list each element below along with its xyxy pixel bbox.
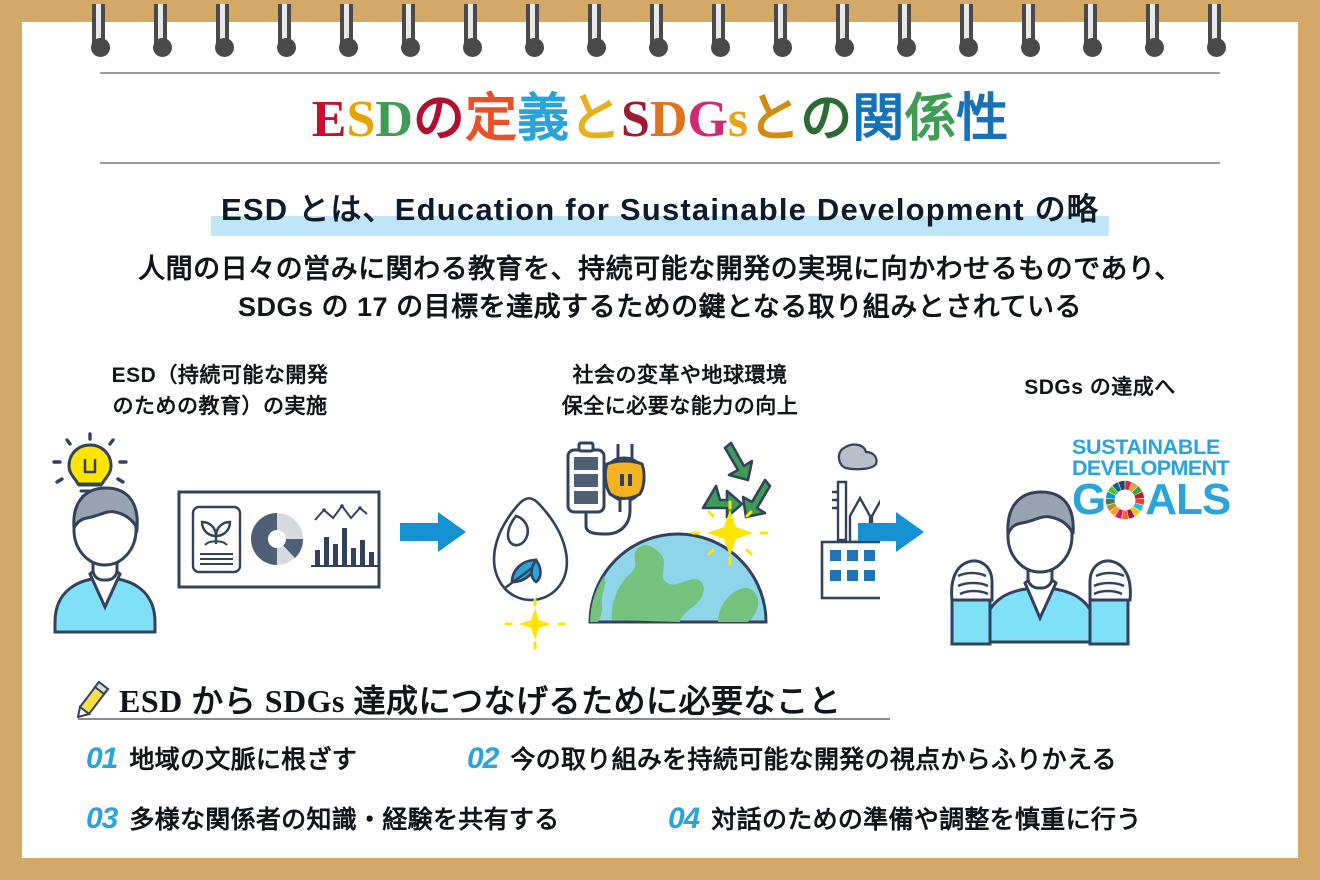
checklist-item-01-number: 01	[86, 742, 117, 776]
esd-implementation-illustration	[45, 432, 405, 647]
title-char: と	[748, 86, 800, 154]
earth-globe-icon	[590, 534, 766, 622]
person-icon	[55, 488, 155, 632]
title-char: D	[375, 86, 413, 154]
title-char: の	[800, 86, 852, 154]
title-char: 性	[956, 86, 1008, 154]
donut-chart-icon	[251, 513, 303, 565]
environment-illustration	[480, 430, 880, 655]
flow-column-2-heading-line2: 保全に必要な能力の向上	[495, 391, 865, 422]
flow-illustration-1	[45, 432, 405, 647]
arrow-right-icon	[858, 512, 924, 552]
whiteboard-icon	[179, 492, 379, 587]
battery-plug-icon	[568, 443, 644, 534]
title-char: の	[413, 86, 465, 154]
sdg-logo-g: G	[1072, 478, 1105, 522]
flow-arrow-2	[858, 510, 924, 559]
flow-arrow-1	[400, 510, 466, 559]
title-char: 関	[852, 86, 904, 154]
flow-column-1-heading-line2: のための教育）の実施	[50, 391, 390, 422]
title-char: G	[687, 86, 727, 154]
sdg-logo-line-3: G ALS	[1072, 478, 1252, 522]
checklist-item-03: 03 多様な関係者の知識・経験を共有する	[86, 800, 559, 836]
flow-column-1-heading-line1: ESD（持続可能な開発	[50, 360, 390, 391]
flow-column-3-heading: SDGs の達成へ	[955, 372, 1245, 403]
flow-column-1-heading: ESD（持続可能な開発 のための教育）の実施	[50, 360, 390, 422]
water-drop-leaf-icon	[494, 498, 567, 600]
sdg-color-wheel-icon	[1105, 480, 1145, 520]
checklist-item-04-text: 対話のための準備や調整を慎重に行う	[711, 800, 1141, 836]
recycle-icon	[703, 443, 770, 517]
arrow-right-icon	[400, 512, 466, 552]
checklist-item-01-text: 地域の文脈に根ざす	[129, 740, 357, 776]
title-char: S	[621, 86, 650, 154]
subtitle-text: ESD とは、Education for Sustainable Develop…	[221, 192, 1099, 227]
checklist-item-04-number: 04	[668, 802, 699, 836]
title-rule-bottom	[100, 162, 1220, 164]
checklist-item-04: 04 対話のための準備や調整を慎重に行う	[668, 800, 1141, 836]
flow-column-3-heading-line1: SDGs の達成へ	[955, 372, 1245, 403]
sdg-logo-icon: SUSTAINABLE DEVELOPMENT G ALS	[1072, 437, 1252, 522]
subtitle-container: ESD とは、Education for Sustainable Develop…	[0, 186, 1320, 238]
sdg-logo-als: ALS	[1145, 478, 1230, 522]
checklist-item-03-number: 03	[86, 802, 117, 836]
checklist-item-01: 01 地域の文脈に根ざす	[86, 740, 357, 776]
checklist-item-02-text: 今の取り組みを持続可能な開発の視点からふりかえる	[510, 740, 1116, 776]
bottom-heading-text: ESD から SDGs 達成につなげるために必要なこと	[119, 676, 841, 722]
lead-line-2: SDGs の 17 の目標を達成するための鍵となる取り組みとされている	[0, 288, 1320, 326]
title-rule-top	[100, 72, 1220, 74]
infographic-page: ESDの定義とSDGsとの関係性 ESD とは、Education for Su…	[0, 0, 1320, 880]
flow-column-2-heading: 社会の変革や地球環境 保全に必要な能力の向上	[495, 360, 865, 422]
title-char: 係	[904, 86, 956, 154]
pencil-icon	[75, 680, 111, 718]
title-char: 義	[517, 86, 569, 154]
lead-line-1: 人間の日々の営みに関わる教育を、持続可能な開発の実現に向かわせるものであり、	[0, 250, 1320, 288]
title-char: E	[312, 86, 347, 154]
title-char: 定	[465, 86, 517, 154]
title-char: S	[346, 86, 375, 154]
page-title: ESDの定義とSDGsとの関係性	[0, 86, 1320, 154]
checklist-item-02-number: 02	[467, 742, 498, 776]
subtitle: ESD とは、Education for Sustainable Develop…	[211, 186, 1109, 238]
checklist-item-02: 02 今の取り組みを持続可能な開発の視点からふりかえる	[467, 740, 1117, 776]
sdg-logo-line-1: SUSTAINABLE	[1072, 437, 1252, 458]
title-char: D	[650, 86, 688, 154]
flow-column-2-heading-line1: 社会の変革や地球環境	[495, 360, 865, 391]
lead-paragraph: 人間の日々の営みに関わる教育を、持続可能な開発の実現に向かわせるものであり、 S…	[0, 250, 1320, 326]
sdg-wheel-segment	[1122, 510, 1128, 519]
bottom-heading-underline	[78, 718, 890, 720]
title-char: と	[569, 86, 621, 154]
checklist-item-03-text: 多様な関係者の知識・経験を共有する	[129, 800, 559, 836]
bottom-section-heading: ESD から SDGs 達成につなげるために必要なこと	[75, 676, 841, 722]
title-char: s	[728, 86, 748, 154]
flow-illustration-2	[480, 430, 880, 650]
